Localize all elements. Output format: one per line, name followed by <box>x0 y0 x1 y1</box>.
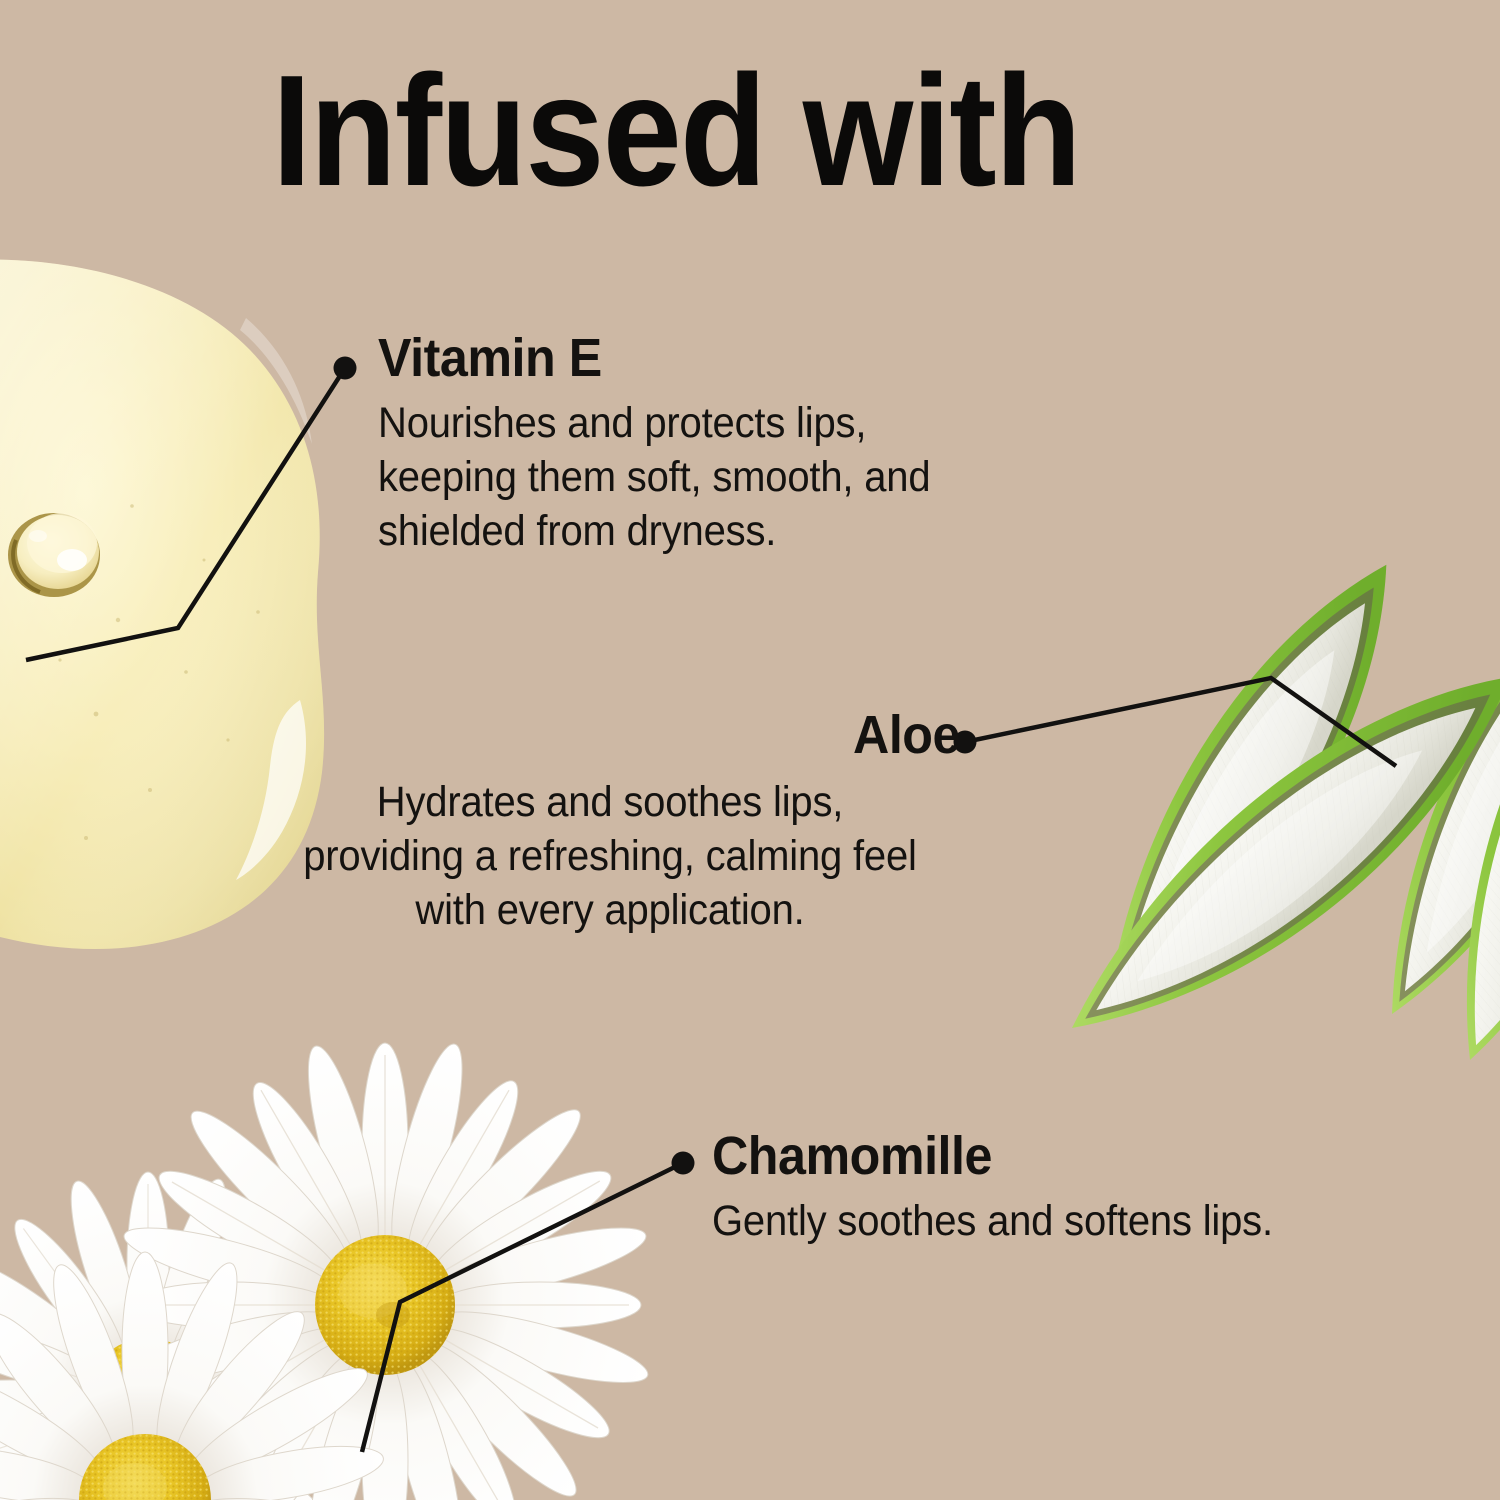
callout-vitamin-e: Vitamin E Nourishes and protects lips, k… <box>378 331 972 559</box>
callout-chamomille-body-line: Gently soothes and softens lips. <box>712 1194 1273 1248</box>
callout-vitamin-e-heading: Vitamin E <box>378 331 930 386</box>
page-title: Infused with <box>272 52 1080 210</box>
callout-chamomille-body: Gently soothes and softens lips. <box>712 1194 1273 1248</box>
callout-aloe: Aloe Hydrates and soothes lips, providin… <box>260 708 960 938</box>
callout-vitamin-e-body-line: keeping them soft, smooth, and <box>378 450 930 504</box>
callout-vitamin-e-body-line: shielded from dryness. <box>378 504 930 558</box>
callout-aloe-body-line: Hydrates and soothes lips, <box>285 775 936 829</box>
infographic-canvas: Infused with Vitamin E Nourishes and pro… <box>0 0 1500 1500</box>
callout-chamomille-heading: Chamomille <box>712 1129 1273 1184</box>
callout-aloe-body-line: providing a refreshing, calming feel <box>285 829 936 883</box>
callout-aloe-body: Hydrates and soothes lips, providing a r… <box>285 775 936 938</box>
aloe-vera-slices <box>1040 529 1500 1091</box>
callout-aloe-body-line: with every application. <box>285 883 936 937</box>
oil-bubble <box>8 513 100 597</box>
chamomile-daisy-flowers <box>0 1039 653 1500</box>
callout-vitamin-e-body: Nourishes and protects lips, keeping the… <box>378 396 930 559</box>
callout-aloe-heading: Aloe <box>309 708 960 763</box>
callout-vitamin-e-body-line: Nourishes and protects lips, <box>378 396 930 450</box>
callout-chamomille: Chamomille Gently soothes and softens li… <box>712 1129 1315 1248</box>
